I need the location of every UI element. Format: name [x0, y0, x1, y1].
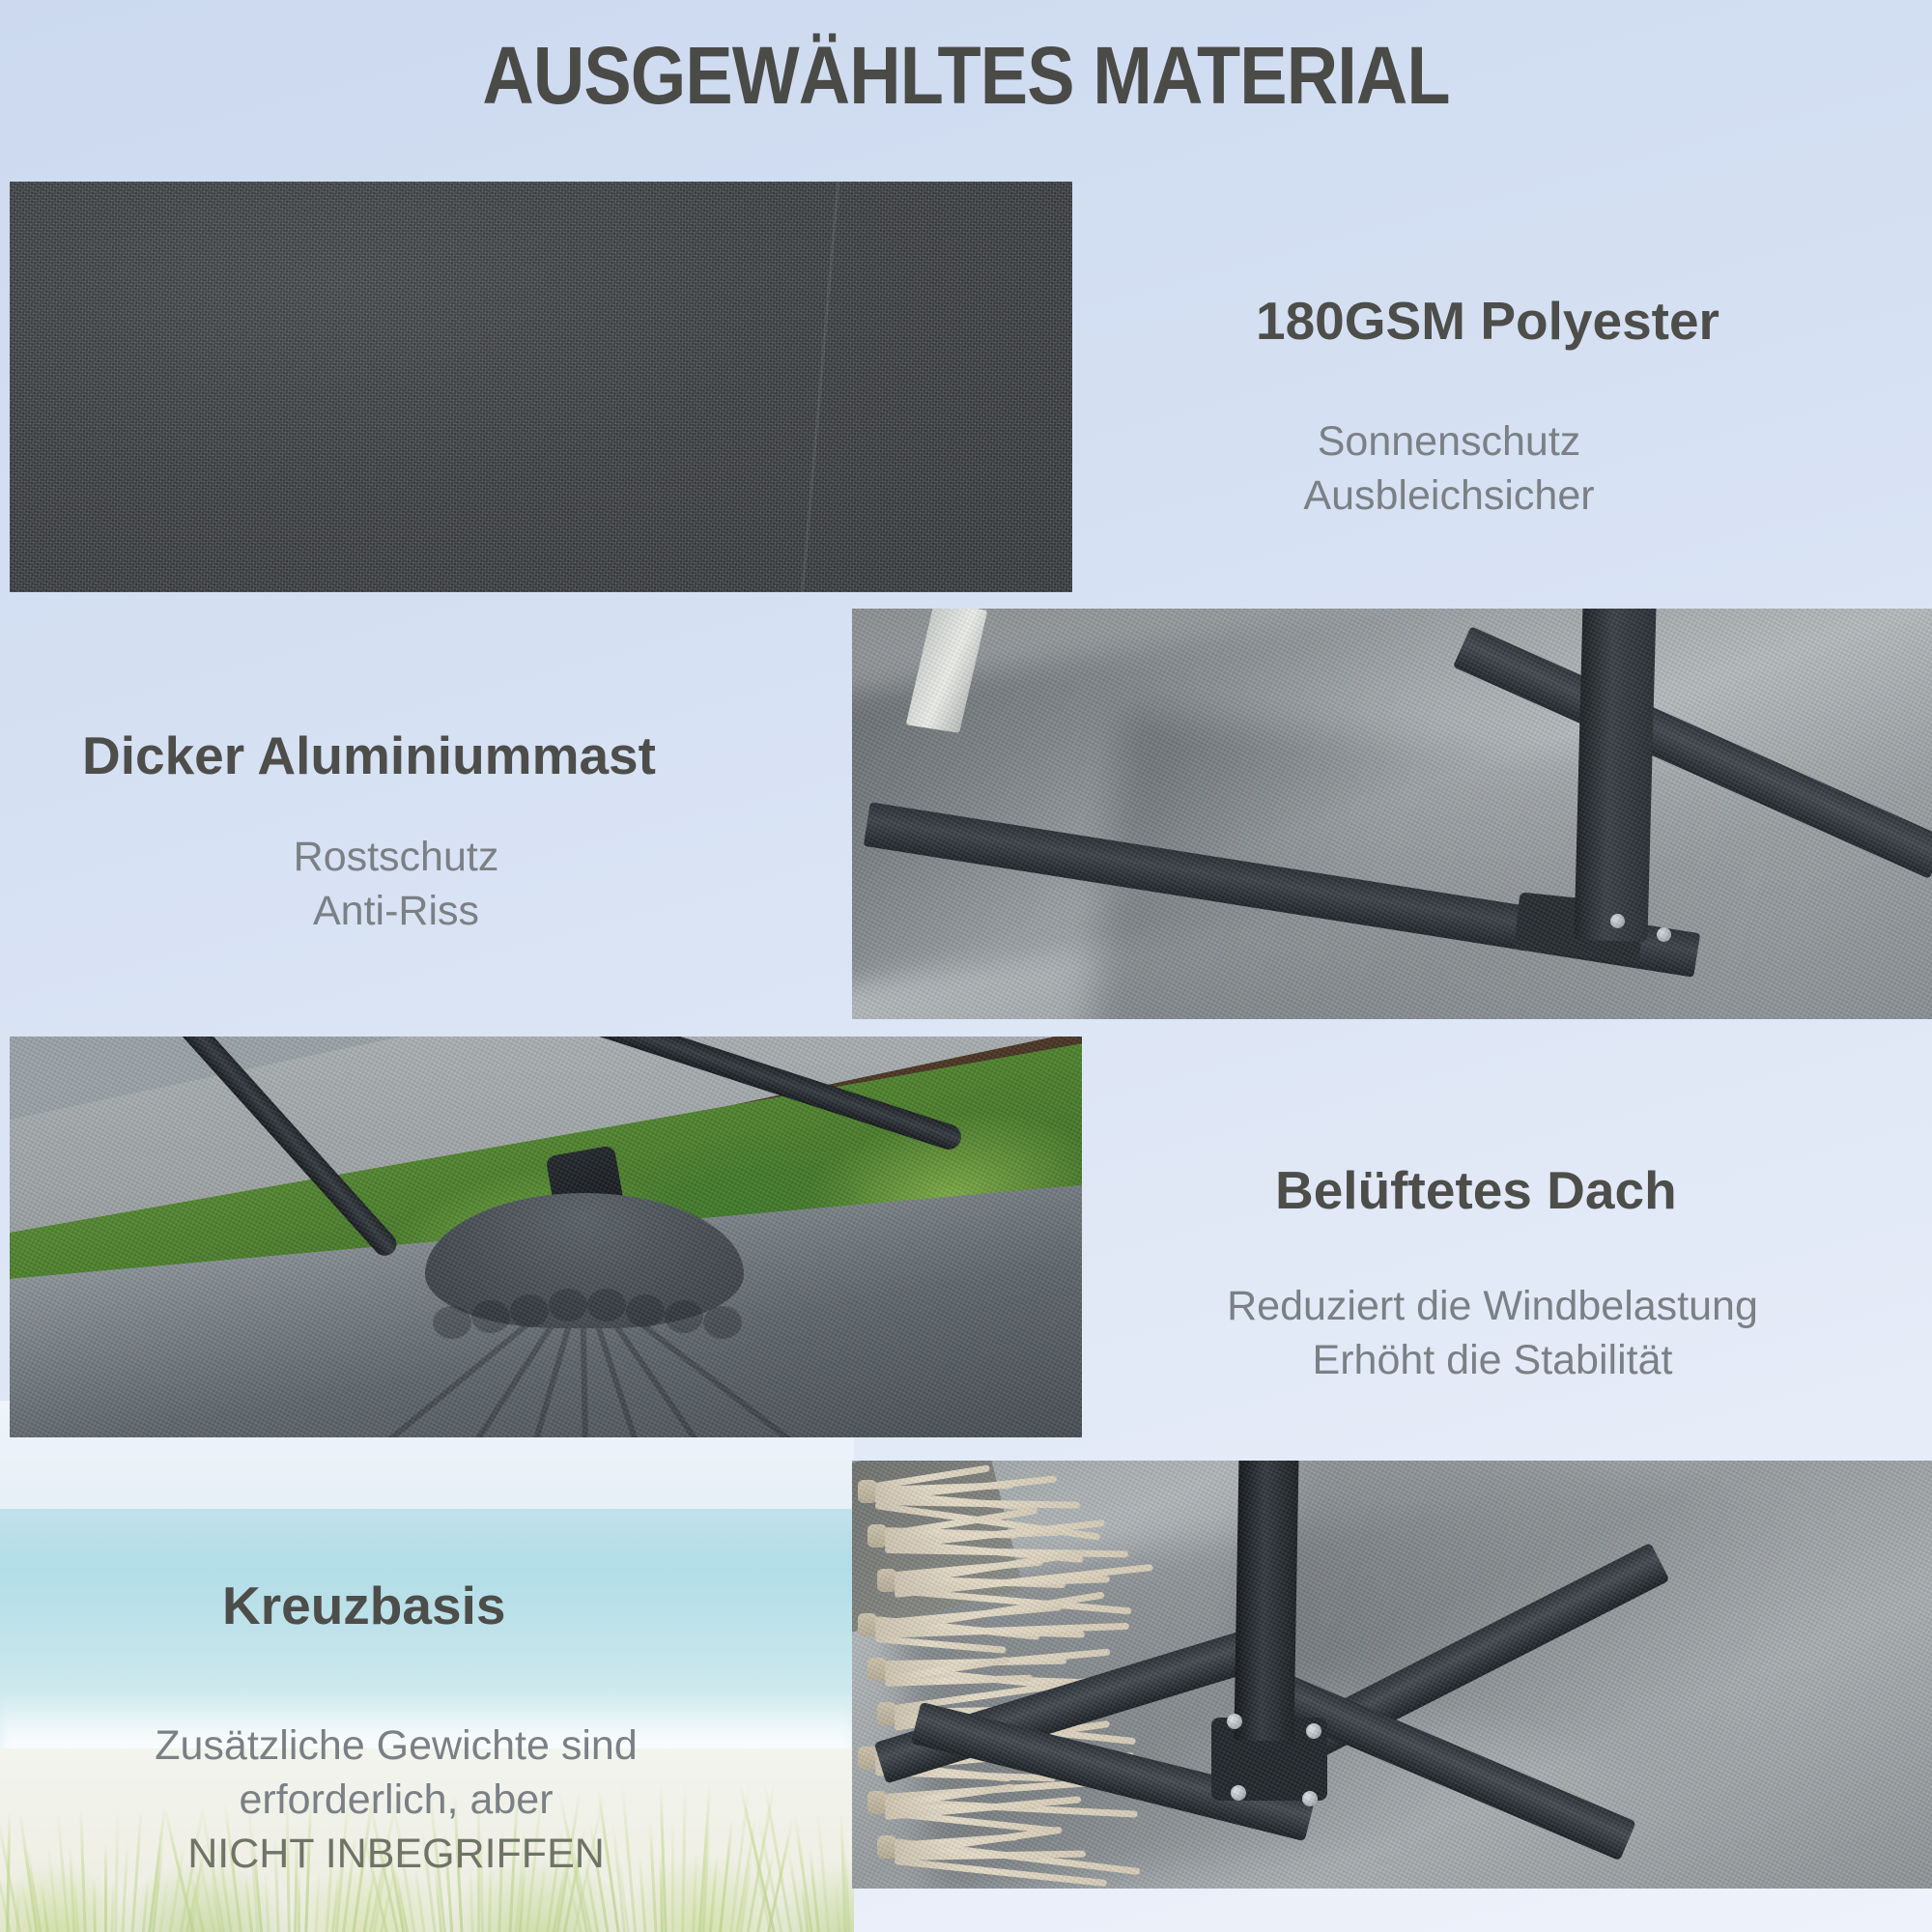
vent-scallop — [433, 1306, 471, 1339]
base-bolt — [1657, 927, 1671, 942]
feature-body-cross-line1: Zusätzliche Gewichte sind — [58, 1719, 734, 1774]
cross-base-bolt — [1231, 1785, 1246, 1801]
feature-heading-vent: Belüftetes Dach — [1275, 1159, 1677, 1221]
feature-body-mast: Rostschutz Anti-Riss — [58, 831, 734, 939]
cross-base-bolt — [1227, 1714, 1242, 1729]
feature-body-mast-line1: Rostschutz — [58, 831, 734, 885]
feature-heading-fabric: 180GSM Polyester — [1256, 290, 1719, 352]
vent-scallop — [703, 1306, 742, 1339]
vent-scallop — [549, 1289, 587, 1321]
fringe-knot — [877, 1835, 896, 1859]
feature-body-vent-line1: Reduziert die Windbelastung — [1111, 1280, 1874, 1334]
vent-scallop — [587, 1289, 626, 1321]
page-title: AUSGEWÄHLTES MATERIAL — [116, 29, 1816, 123]
feature-body-cross: Zusätzliche Gewichte sind erforderlich, … — [58, 1719, 734, 1882]
feature-body-fabric-line2: Ausbleichsicher — [1111, 469, 1787, 524]
feature-body-cross-line2: erforderlich, aber — [58, 1774, 734, 1828]
fabric-swatch-image — [10, 182, 1072, 592]
vent-scallop — [626, 1294, 665, 1327]
fringe-knot — [858, 1613, 877, 1636]
aluminium-mast-base-image — [852, 609, 1932, 1019]
feature-body-cross-line3: NICHT INBEGRIFFEN — [58, 1828, 734, 1882]
fringe-knot — [877, 1702, 896, 1725]
feature-body-mast-line2: Anti-Riss — [58, 885, 734, 939]
fabric-weave-texture — [10, 182, 1072, 592]
feature-heading-mast: Dicker Aluminiummast — [82, 724, 656, 786]
feature-body-fabric-line1: Sonnenschutz — [1111, 415, 1787, 469]
aluminium-mast — [1574, 609, 1656, 942]
vent-scallop — [471, 1300, 510, 1333]
feature-body-vent: Reduziert die Windbelastung Erhöht die S… — [1111, 1280, 1874, 1388]
vent-scallop — [510, 1294, 549, 1327]
feature-heading-cross: Kreuzbasis — [222, 1575, 505, 1636]
feature-body-vent-line2: Erhöht die Stabilität — [1111, 1334, 1874, 1388]
cross-base-bolt — [1306, 1723, 1321, 1739]
cross-base-bolt — [1302, 1791, 1318, 1806]
infographic-page: AUSGEWÄHLTES MATERIAL 180GSM Polyester S… — [0, 0, 1932, 1932]
vented-canopy-image — [10, 1037, 1082, 1437]
feature-body-fabric: Sonnenschutz Ausbleichsicher — [1111, 415, 1787, 524]
vent-scallop — [665, 1300, 703, 1333]
base-bolt — [1610, 914, 1625, 928]
cross-base-pole — [1234, 1461, 1298, 1742]
fringe-knot — [858, 1480, 877, 1503]
cross-base-image — [852, 1461, 1932, 1889]
